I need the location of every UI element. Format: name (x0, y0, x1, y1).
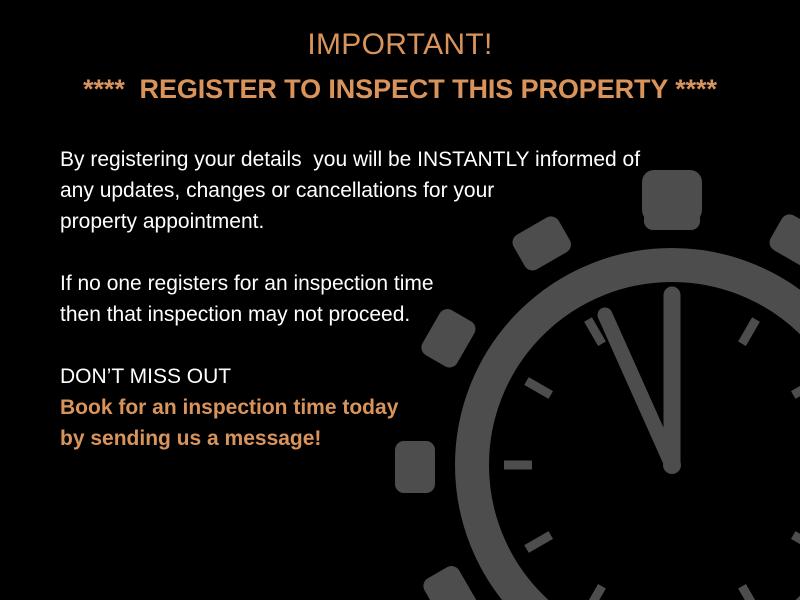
body-block: By registering your details you will be … (60, 144, 720, 454)
text-layer: IMPORTANT! **** REGISTER TO INSPECT THIS… (0, 0, 800, 600)
heading-important: IMPORTANT! (0, 26, 800, 64)
paragraph-no-registration: If no one registers for an inspection ti… (60, 268, 720, 330)
cta-book-inspection: Book for an inspection time today (60, 392, 720, 423)
paragraph-no-registration-line-1: If no one registers for an inspection ti… (60, 268, 720, 299)
paragraph-registering-line-2: any updates, changes or cancellations fo… (60, 175, 720, 206)
cta-send-message: by sending us a message! (60, 423, 720, 454)
paragraph-no-registration-line-2: then that inspection may not proceed. (60, 299, 720, 330)
cta-dont-miss-out: DON’T MISS OUT (60, 361, 720, 392)
call-to-action-block: DON’T MISS OUT Book for an inspection ti… (60, 361, 720, 454)
paragraph-registering: By registering your details you will be … (60, 144, 720, 237)
paragraph-registering-line-3: property appointment. (60, 206, 720, 237)
promo-slide: IMPORTANT! **** REGISTER TO INSPECT THIS… (0, 0, 800, 600)
heading-register-to-inspect: **** REGISTER TO INSPECT THIS PROPERTY *… (0, 70, 800, 108)
paragraph-spacer-1 (60, 237, 720, 268)
paragraph-registering-line-1: By registering your details you will be … (60, 144, 720, 175)
heading-block: IMPORTANT! **** REGISTER TO INSPECT THIS… (0, 26, 800, 108)
paragraph-spacer-2 (60, 330, 720, 361)
